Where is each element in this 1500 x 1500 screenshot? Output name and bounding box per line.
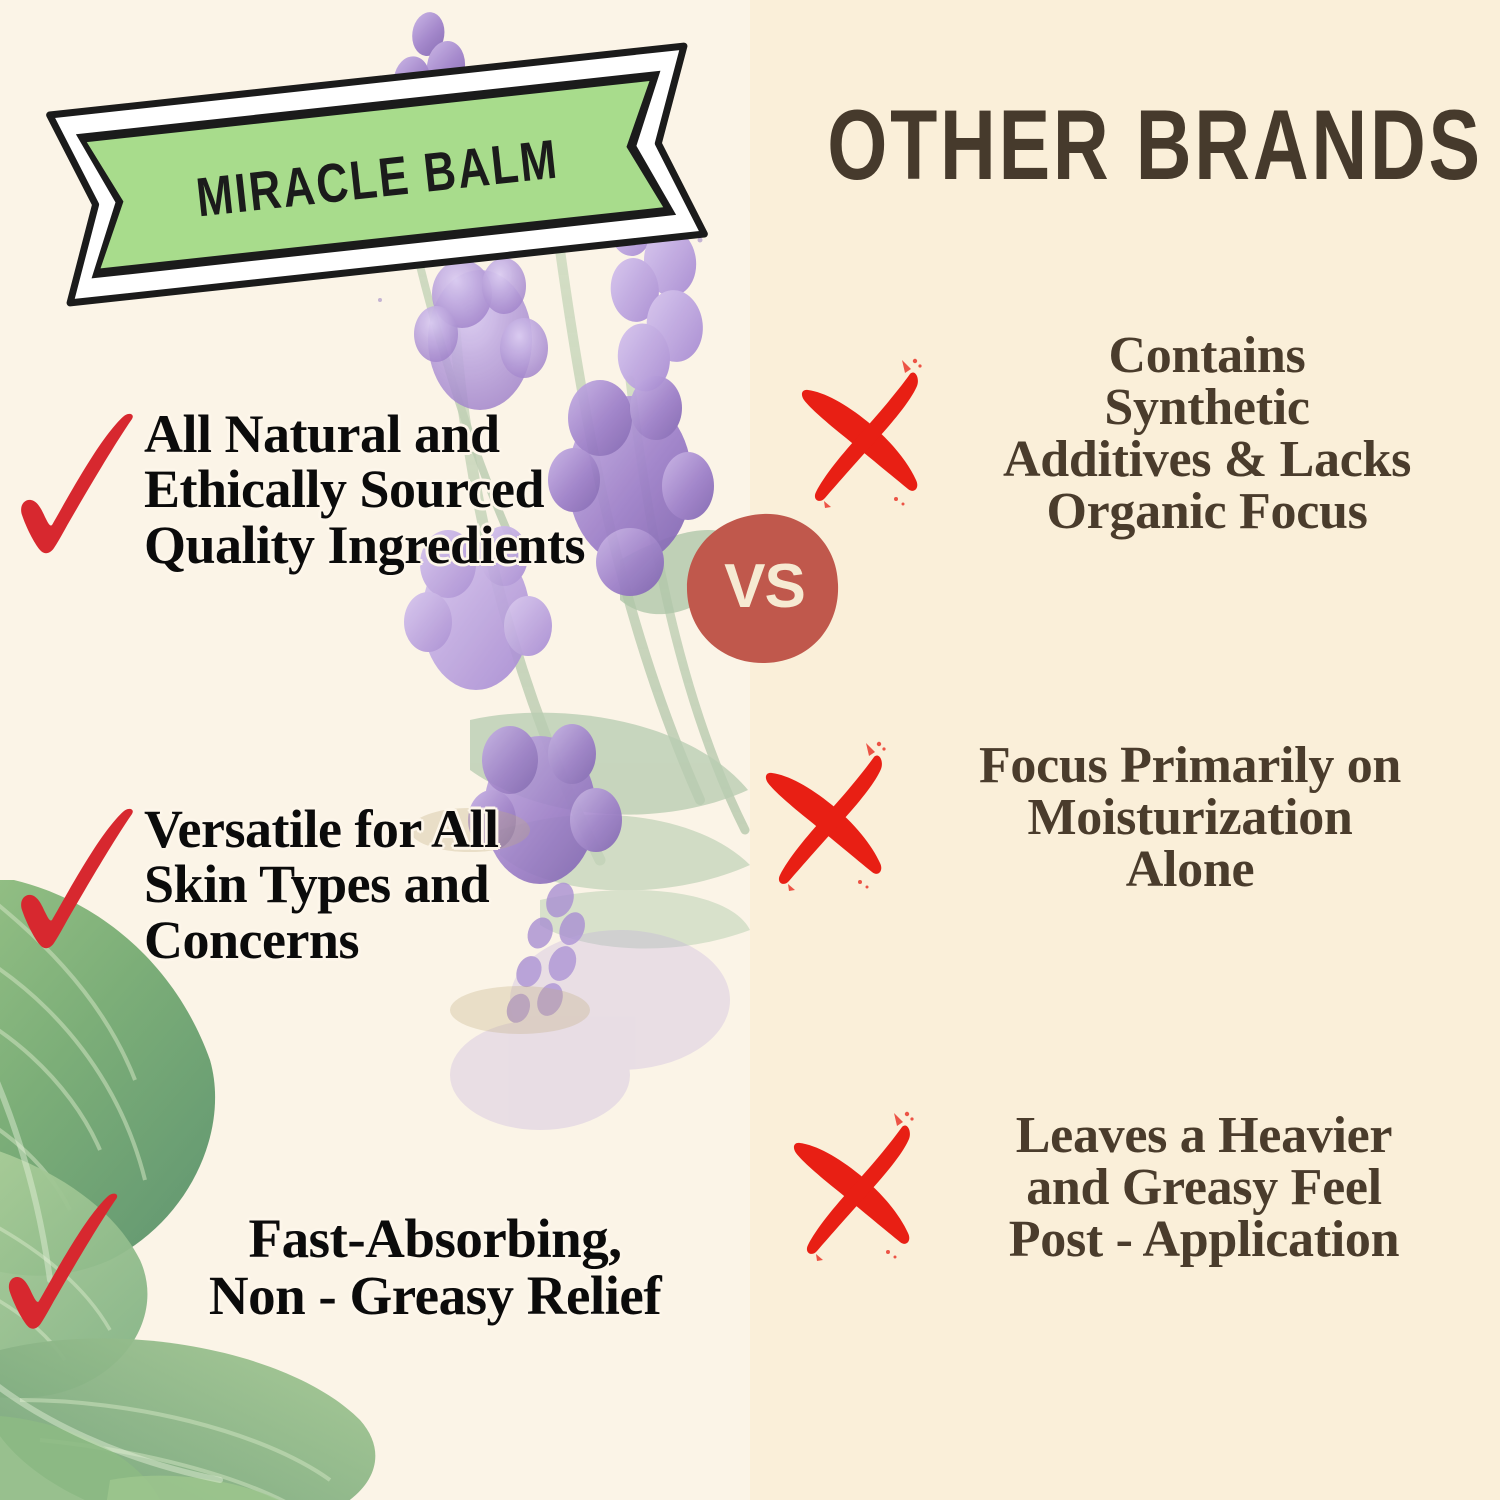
check-mark-icon (0, 1185, 130, 1350)
pro-item-3-line-2: Non - Greasy Relief (130, 1268, 740, 1325)
cross-mark-icon (790, 1105, 918, 1270)
other-brands-title: OTHER BRANDS (827, 88, 1453, 202)
pro-item-2-line-3: Concerns (144, 913, 714, 969)
cross-mark-icon (762, 735, 890, 900)
check-mark-icon (14, 800, 144, 970)
check-mark-icon (14, 405, 144, 575)
con-item-1: Contains Synthetic Additives & Lacks Org… (798, 330, 1488, 538)
pro-item-1: All Natural and Ethically Sourced Qualit… (14, 405, 734, 575)
con-item-3: Leaves a Heavier and Greasy Feel Post - … (790, 1105, 1490, 1270)
con-item-2-line-3: Alone (890, 844, 1490, 896)
pro-item-2-text: Versatile for All Skin Types and Concern… (144, 802, 714, 969)
con-item-2-text: Focus Primarily on Moisturization Alone (890, 740, 1490, 896)
pro-item-1-line-1: All Natural and (144, 407, 734, 463)
pro-item-3: Fast-Absorbing, Non - Greasy Relief (0, 1185, 740, 1350)
con-item-1-text: Contains Synthetic Additives & Lacks Org… (926, 330, 1488, 538)
pro-item-2: Versatile for All Skin Types and Concern… (14, 800, 714, 970)
pro-item-3-text: Fast-Absorbing, Non - Greasy Relief (130, 1211, 740, 1324)
pro-item-1-line-3: Quality Ingredients (144, 518, 734, 574)
pro-item-1-line-2: Ethically Sourced (144, 462, 734, 518)
con-item-2: Focus Primarily on Moisturization Alone (762, 735, 1490, 900)
pro-item-3-line-1: Fast-Absorbing, (130, 1211, 740, 1268)
pro-item-2-line-1: Versatile for All (144, 802, 714, 858)
con-item-2-line-1: Focus Primarily on (890, 740, 1490, 792)
con-item-3-line-2: and Greasy Feel (918, 1162, 1490, 1214)
infographic-canvas: MIRACLE BALM OTHER BRANDS VS All Natural… (0, 0, 1500, 1500)
con-item-1-line-2: Synthetic (926, 382, 1488, 434)
con-item-1-line-3: Additives & Lacks (926, 434, 1488, 486)
pro-item-1-text: All Natural and Ethically Sourced Qualit… (144, 407, 734, 574)
con-item-1-line-4: Organic Focus (926, 486, 1488, 538)
con-item-3-line-1: Leaves a Heavier (918, 1110, 1490, 1162)
con-item-3-line-3: Post - Application (918, 1214, 1490, 1266)
pro-item-2-line-2: Skin Types and (144, 857, 714, 913)
cross-mark-icon (798, 352, 926, 517)
con-item-1-line-1: Contains (926, 330, 1488, 382)
con-item-3-text: Leaves a Heavier and Greasy Feel Post - … (918, 1110, 1490, 1266)
con-item-2-line-2: Moisturization (890, 792, 1490, 844)
